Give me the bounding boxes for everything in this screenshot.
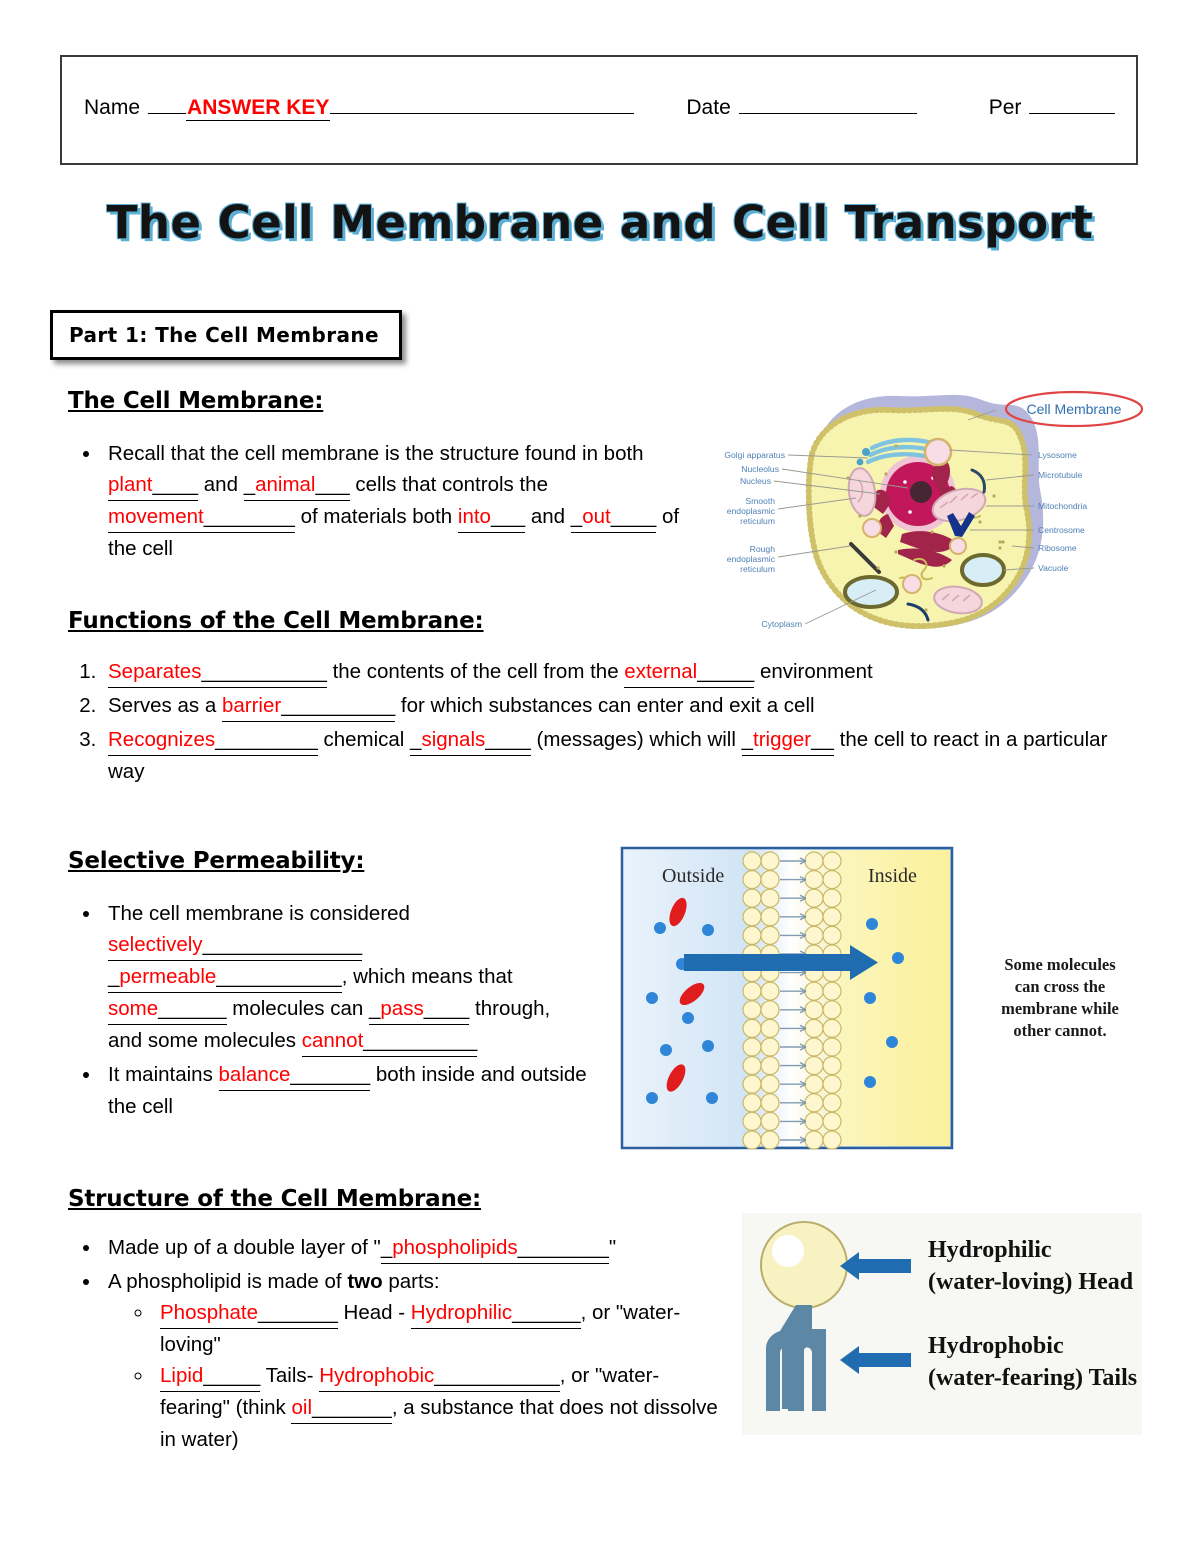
svg-text:Lysosome: Lysosome — [1038, 450, 1077, 460]
inside-label: Inside — [868, 865, 917, 887]
text-run: A phospholipid is made of — [108, 1270, 347, 1293]
answer-text: Separates — [108, 660, 201, 683]
svg-text:reticulum: reticulum — [740, 564, 775, 574]
blank-barrier[interactable]: barrier__________ — [222, 690, 395, 722]
blank-into[interactable]: into___ — [458, 501, 525, 533]
text-run: Recall that the cell membrane is the str… — [108, 442, 644, 465]
text-run: and — [198, 473, 244, 496]
svg-text:other cannot.: other cannot. — [1013, 1021, 1106, 1040]
svg-text:Nucleolus: Nucleolus — [741, 464, 779, 474]
phospholipid-diagram: Hydrophilic (water-loving) Head Hydropho… — [742, 1213, 1142, 1435]
list-item: Phosphate_______ Head - Hydrophilic_____… — [154, 1297, 728, 1360]
answer-text: pass — [380, 997, 423, 1020]
name-answer: ANSWER KEY — [186, 96, 330, 121]
answer-text: oil — [291, 1396, 312, 1419]
list-item: Made up of a double layer of "_phospholi… — [102, 1232, 728, 1264]
name-label: Name — [84, 96, 140, 120]
answer-text: movement — [108, 505, 204, 528]
structure-list: Made up of a double layer of "_phospholi… — [68, 1232, 728, 1455]
answer-text: permeable — [119, 965, 216, 988]
cell-membrane-body: Recall that the cell membrane is the str… — [68, 438, 698, 566]
list-item: A phospholipid is made of two parts: Pho… — [102, 1266, 728, 1455]
list-item: Lipid_____ Tails- Hydrophobic___________… — [154, 1360, 728, 1455]
text-run: of materials both — [295, 505, 458, 528]
per-label: Per — [989, 96, 1022, 120]
blank-cannot[interactable]: cannot__________ — [302, 1025, 478, 1057]
blank-selectively[interactable]: selectively______________ — [108, 929, 362, 961]
page-title: The Cell Membrane and Cell Transport — [0, 196, 1200, 249]
hydrophobic-label-line2: (water-fearing) Tails — [928, 1365, 1137, 1391]
student-info-box: Name ANSWER KEY Date Per — [60, 55, 1138, 165]
structure-body: Made up of a double layer of "_phospholi… — [68, 1232, 728, 1457]
list-item: Recall that the cell membrane is the str… — [102, 438, 698, 564]
answer-text: some — [108, 997, 158, 1020]
answer-text: into — [458, 505, 491, 528]
heading-selective-permeability: Selective Permeability: — [68, 848, 364, 874]
answer-text: Hydrophobic — [319, 1364, 434, 1387]
answer-text: Phosphate — [160, 1301, 258, 1324]
svg-text:Microtubule: Microtubule — [1038, 470, 1083, 480]
date-blank[interactable] — [739, 93, 917, 114]
answer-text: plant — [108, 473, 152, 496]
functions-body: Separates___________ the contents of the… — [68, 656, 1138, 789]
hydrophilic-label-line1: Hydrophilic — [928, 1237, 1052, 1263]
blank-lipid[interactable]: Lipid_____ — [160, 1360, 260, 1392]
blank-movement[interactable]: movement________ — [108, 501, 295, 533]
answer-text: trigger — [753, 728, 811, 751]
blank-hydrophilic[interactable]: Hydrophilic______ — [411, 1297, 581, 1329]
answer-text: signals — [421, 728, 485, 751]
date-label: Date — [686, 96, 730, 120]
selective-body: The cell membrane is considered selectiv… — [68, 898, 588, 1124]
blank-animal[interactable]: _animal___ — [244, 469, 350, 501]
blank-plant[interactable]: plant____ — [108, 469, 198, 501]
student-info-row: Name ANSWER KEY Date Per — [84, 93, 1122, 121]
svg-text:Nucleus: Nucleus — [740, 476, 771, 486]
answer-text: selectively — [108, 933, 203, 956]
svg-text:Some molecules: Some molecules — [1004, 955, 1116, 974]
text-run: Made up of a double layer of " — [108, 1236, 381, 1259]
list-item: Recognizes_________ chemical _signals___… — [102, 724, 1138, 787]
emphasis-two: two — [347, 1270, 382, 1293]
text-run: It maintains — [108, 1063, 219, 1086]
text-run: for which substances can enter and exit … — [395, 694, 814, 717]
svg-text:Rough: Rough — [750, 544, 776, 554]
blank-trigger[interactable]: _trigger__ — [742, 724, 834, 756]
name-blank-post[interactable] — [330, 93, 634, 114]
blank-some[interactable]: some______ — [108, 993, 227, 1025]
blank-permeable[interactable]: _permeable___________ — [108, 961, 342, 993]
heading-structure: Structure of the Cell Membrane: — [68, 1186, 481, 1212]
text-run: and — [525, 505, 571, 528]
answer-text: external — [624, 660, 697, 683]
functions-list: Separates___________ the contents of the… — [68, 656, 1138, 787]
text-run: chemical — [318, 728, 410, 751]
answer-text: Lipid — [160, 1364, 203, 1387]
list-item: The cell membrane is considered selectiv… — [102, 898, 588, 1057]
text-run: parts: — [383, 1270, 440, 1293]
text-run: Head - — [338, 1301, 411, 1324]
blank-phosphate[interactable]: Phosphate_______ — [160, 1297, 338, 1329]
selective-list: The cell membrane is considered selectiv… — [68, 898, 588, 1122]
svg-text:Vacuole: Vacuole — [1038, 563, 1069, 573]
svg-text:Ribosome: Ribosome — [1038, 543, 1077, 553]
blank-recognizes[interactable]: Recognizes_________ — [108, 724, 318, 756]
text-run: The cell membrane is considered — [108, 902, 410, 925]
list-item: It maintains balance_______ both inside … — [102, 1059, 588, 1122]
answer-text: phospholipids — [392, 1236, 517, 1259]
text-run: Tails- — [260, 1364, 319, 1387]
blank-pass[interactable]: _pass____ — [369, 993, 469, 1025]
svg-text:Cytoplasm: Cytoplasm — [761, 619, 802, 629]
svg-text:Smooth: Smooth — [745, 496, 775, 506]
answer-text: out — [582, 505, 611, 528]
heading-functions: Functions of the Cell Membrane: — [68, 608, 484, 634]
blank-phospholipids[interactable]: _phospholipids________ — [381, 1232, 609, 1264]
svg-text:Centrosome: Centrosome — [1038, 525, 1085, 535]
blank-out[interactable]: _out____ — [571, 501, 657, 533]
text-run: (messages) which will — [531, 728, 742, 751]
part-1-label: Part 1: The Cell Membrane — [53, 323, 379, 347]
answer-text: barrier — [222, 694, 281, 717]
text-run: " — [609, 1236, 616, 1259]
hydrophilic-label-line2: (water-loving) Head — [928, 1269, 1134, 1295]
structure-sublist: Phosphate_______ Head - Hydrophilic_____… — [108, 1297, 728, 1455]
per-blank[interactable] — [1029, 93, 1115, 114]
answer-text: balance — [219, 1063, 291, 1086]
name-blank-pre[interactable] — [148, 93, 186, 114]
svg-text:endoplasmic: endoplasmic — [727, 506, 776, 516]
animal-cell-diagram: Cell Membrane Golgi apparatus Nucleolus … — [700, 382, 1148, 654]
svg-text:membrane while: membrane while — [1001, 999, 1119, 1018]
part-1-banner: Part 1: The Cell Membrane — [50, 310, 402, 360]
blank-balance[interactable]: balance_______ — [219, 1059, 371, 1091]
blank-external[interactable]: external_____ — [624, 656, 754, 688]
text-run: cells that controls the — [350, 473, 548, 496]
hydrophobic-label-line1: Hydrophobic — [928, 1333, 1064, 1359]
text-run: environment — [754, 660, 873, 683]
blank-hydrophobic[interactable]: Hydrophobic___________ — [319, 1360, 560, 1392]
answer-text: Recognizes — [108, 728, 215, 751]
blank-separates[interactable]: Separates___________ — [108, 656, 327, 688]
list-item: Separates___________ the contents of the… — [102, 656, 1138, 688]
text-run: the contents of the cell from the — [327, 660, 624, 683]
selective-permeability-diagram: {} Outside Inside Some molecules can cro… — [620, 846, 1145, 1151]
outside-label: Outside — [662, 865, 724, 887]
heading-cell-membrane: The Cell Membrane: — [68, 388, 323, 414]
blank-signals[interactable]: _signals____ — [410, 724, 531, 756]
cell-membrane-list: Recall that the cell membrane is the str… — [68, 438, 698, 564]
svg-text:reticulum: reticulum — [740, 516, 775, 526]
text-run: molecules can — [227, 997, 369, 1020]
list-item: Serves as a barrier__________ for which … — [102, 690, 1138, 722]
answer-text: cannot — [302, 1029, 364, 1052]
svg-text:can cross the: can cross the — [1015, 977, 1105, 996]
answer-text: Hydrophilic — [411, 1301, 512, 1324]
svg-text:endoplasmic: endoplasmic — [727, 554, 776, 564]
answer-text: animal — [255, 473, 315, 496]
cell-membrane-callout-text: Cell Membrane — [1027, 401, 1122, 417]
svg-text:Mitochondria: Mitochondria — [1038, 501, 1087, 511]
svg-text:Golgi apparatus: Golgi apparatus — [724, 450, 785, 460]
text-run: , which means that — [342, 965, 513, 988]
blank-oil[interactable]: oil_______ — [291, 1392, 391, 1424]
text-run: Serves as a — [108, 694, 222, 717]
